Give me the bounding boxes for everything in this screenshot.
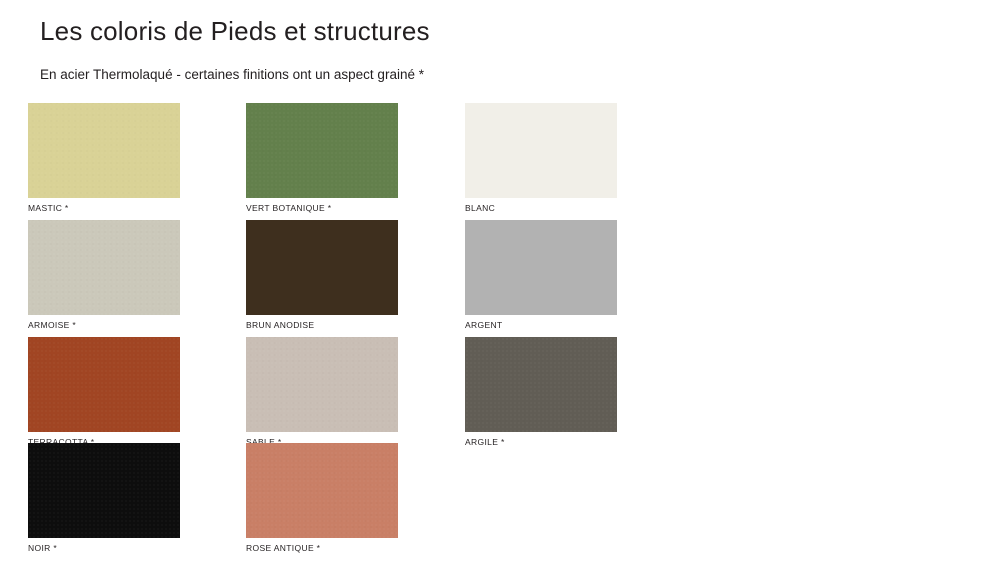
color-swatch-label: VERT BOTANIQUE * — [246, 204, 398, 213]
color-swatch-chip[interactable] — [246, 103, 398, 198]
color-swatch-item[interactable]: NOIR * — [28, 443, 180, 553]
color-swatch-chip[interactable] — [246, 443, 398, 538]
color-swatch-item[interactable]: ARGENT — [465, 220, 617, 330]
color-swatch-chip[interactable] — [246, 337, 398, 432]
page-title: Les coloris de Pieds et structures — [40, 16, 430, 47]
color-swatch-label: BRUN ANODISE — [246, 321, 398, 330]
color-swatch-item[interactable]: VERT BOTANIQUE * — [246, 103, 398, 213]
color-swatch-chip[interactable] — [28, 443, 180, 538]
color-swatch-chip[interactable] — [465, 103, 617, 198]
color-swatch-chip[interactable] — [246, 220, 398, 315]
color-swatch-chip[interactable] — [28, 103, 180, 198]
color-swatch-label: ARMOISE * — [28, 321, 180, 330]
color-swatch-label: BLANC — [465, 204, 617, 213]
color-swatch-item[interactable]: ARGILE * — [465, 337, 617, 447]
color-swatch-item[interactable]: SABLE * — [246, 337, 398, 447]
color-swatch-item[interactable]: TERRACOTTA * — [28, 337, 180, 447]
color-swatch-item[interactable]: ARMOISE * — [28, 220, 180, 330]
color-swatch-chip[interactable] — [28, 337, 180, 432]
color-swatch-label: MASTIC * — [28, 204, 180, 213]
color-swatch-label: ARGENT — [465, 321, 617, 330]
page-subtitle: En acier Thermolaqué - certaines finitio… — [40, 66, 424, 84]
color-chart-page: Les coloris de Pieds et structures En ac… — [0, 0, 1000, 563]
color-swatch-item[interactable]: ROSE ANTIQUE * — [246, 443, 398, 553]
color-swatch-label: NOIR * — [28, 544, 180, 553]
color-swatch-label: ARGILE * — [465, 438, 617, 447]
color-swatch-chip[interactable] — [465, 337, 617, 432]
color-swatch-label: ROSE ANTIQUE * — [246, 544, 398, 553]
color-swatch-item[interactable]: BRUN ANODISE — [246, 220, 398, 330]
color-swatch-chip[interactable] — [28, 220, 180, 315]
color-swatch-item[interactable]: BLANC — [465, 103, 617, 213]
color-swatch-chip[interactable] — [465, 220, 617, 315]
color-swatch-item[interactable]: MASTIC * — [28, 103, 180, 213]
